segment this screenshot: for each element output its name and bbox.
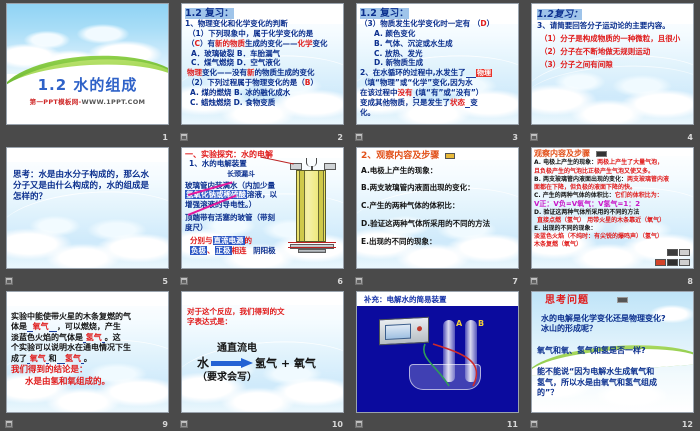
thumbnail-footer-8: 8 bbox=[525, 271, 700, 288]
text-line: D. 新物质生成 bbox=[360, 59, 515, 68]
slide-number: 9 bbox=[162, 420, 168, 429]
slide-body-9: 实验中能使带火星的木条复燃的气 体是 氧气 ，可以燃烧，产生 淡蓝色火焰的气体是… bbox=[7, 292, 168, 412]
equation-product: 氢气 + 氧气 bbox=[255, 355, 316, 371]
text-line: E. 出现的不同的现象： bbox=[534, 225, 691, 232]
slide-thumbnail-4[interactable]: 1.2复习： 3、请简要回答分子运动论的主要内容。 （1）分子是构成物质的一种微… bbox=[525, 0, 700, 144]
media-button-icon[interactable] bbox=[445, 153, 455, 159]
text-line: 面都在下降，但负极的液面下降的快。 bbox=[534, 184, 691, 191]
slide-canvas-5[interactable]: 思考：水是由水分子构成的，那么水 分子又是由什么构成的，水的组成是 怎样的？ bbox=[6, 147, 169, 269]
thumbnail-footer-2: 2 bbox=[175, 127, 350, 144]
text-line-mixed: 2、在水循环的过程中,水发生了 物理 bbox=[360, 69, 515, 78]
slide-thumbnail-3[interactable]: 1.2 复习： （3）物质发生化学变化时一定有 （D） A. 颜色变化 B. 气… bbox=[350, 0, 525, 144]
text-line: 分子又是由什么构成的，水的组成是 bbox=[13, 181, 162, 191]
text-line: （1）分子是构成物质的一种微粒，且很小 bbox=[537, 35, 688, 44]
slide-number: 8 bbox=[687, 277, 693, 286]
slide-heading: 1.2复习： bbox=[537, 6, 688, 20]
text-line: 1、物理变化和化学变化的判断 bbox=[185, 20, 340, 29]
text-line: 且负极产生的气泡比正极产生气泡又使又多。 bbox=[534, 168, 691, 175]
text-line: E.出现的不同的现象： bbox=[361, 238, 514, 247]
slide-thumbnail-2[interactable]: 1.2 复习： 1、物理变化和化学变化的判断 （1）下列现象中，属于化学变化的是… bbox=[175, 0, 350, 144]
text-line: 氢气，所以水是由氧气和氢气组成 bbox=[537, 378, 688, 387]
slide-thumbnail-5[interactable]: 思考：水是由水分子构成的，那么水 分子又是由什么构成的，水的组成是 怎样的？ 5 bbox=[0, 144, 175, 288]
text-line-mixed: 成了 氧气 和 氢气 。 bbox=[11, 354, 164, 363]
text-line: 怎样的？ bbox=[13, 192, 162, 202]
slide-canvas-12[interactable]: 思考问题 水的电解是化学变化还是物理变化? 冰山的形成呢？ 氧气和氧、氢气和氢是… bbox=[531, 291, 694, 413]
slide-canvas-11[interactable]: 补充：电解水的简易装置 A B bbox=[356, 291, 519, 413]
slide-thumbnail-12[interactable]: 思考问题 水的电解是化学变化还是物理变化? 冰山的形成呢？ 氧气和氧、氢气和氢是… bbox=[525, 288, 700, 431]
text-line: 冰山的形成呢？ bbox=[537, 324, 688, 333]
media-icon[interactable] bbox=[5, 277, 13, 285]
text-line-mixed: B. 两支玻璃管内液面出现的变化：两支玻璃管内液 bbox=[534, 176, 691, 183]
blank-answer: 氧气 bbox=[30, 354, 46, 363]
slide-body-10: 对于这个反应，我们得到的文 字表达式是： 通直流电 水 氢气 + 氧气 （要求会… bbox=[182, 292, 343, 412]
slide-thumbnail-7[interactable]: 2、观察内容及步骤 A.电极上产生的现象： B.两支玻璃管内液面出现的变化： C… bbox=[350, 144, 525, 288]
slide-thumbnail-6[interactable]: 一、实验探究：水的电解 1、水的电解装置 长颈漏斗 玻璃管内装满水（内加少量 氢… bbox=[175, 144, 350, 288]
slide-thumbnail-11[interactable]: 补充：电解水的简易装置 A B 11 bbox=[350, 288, 525, 431]
label-electrodes: 阴阳极 bbox=[253, 246, 276, 255]
text-line: 的”？ bbox=[537, 388, 688, 397]
simple-electrolysis-diagram: A B bbox=[357, 292, 518, 412]
thumbnail-footer-3: 3 bbox=[350, 127, 525, 144]
text-line: 顶端带有活塞的玻管（带刻 bbox=[185, 214, 340, 223]
arrow-icon bbox=[211, 358, 253, 368]
text-line-mixed: 淡蓝色火焰的气体是 氢气 。这 bbox=[11, 333, 164, 342]
text-line-mixed: 分别与直流电源的 bbox=[185, 237, 340, 246]
text-line: B.两支玻璃管内液面出现的变化： bbox=[361, 184, 514, 193]
text-line-mixed: 变成其他物质，只是发生了状态 变 bbox=[360, 99, 515, 108]
media-icon[interactable] bbox=[180, 420, 188, 428]
slide-thumbnail-grid: 1.2 水的组成 第一PPT模板网-WWW.1PPT.COM 1 1.2 复习：… bbox=[0, 0, 700, 431]
text-line: 思考：水是由水分子构成的，那么水 bbox=[13, 170, 162, 180]
thumbnail-footer-11: 11 bbox=[350, 414, 525, 431]
media-icon[interactable] bbox=[180, 133, 188, 141]
slide-number: 6 bbox=[337, 277, 343, 286]
slide-number: 5 bbox=[162, 277, 168, 286]
media-btn[interactable] bbox=[679, 249, 690, 256]
media-btn-record[interactable] bbox=[655, 259, 666, 266]
text-line-mixed: C. 产生的两种气体的体积比：它们的体积比为： bbox=[534, 192, 691, 199]
text-line: A.电极上产生的现象： bbox=[361, 167, 514, 176]
slide-body-7: 2、观察内容及步骤 A.电极上产生的现象： B.两支玻璃管内液面出现的变化： C… bbox=[357, 148, 518, 268]
text-line: 氧气和氧、氢气和氢是否一样? bbox=[537, 346, 688, 355]
thumbnail-footer-6: 6 bbox=[175, 271, 350, 288]
text-line: D.验证这两种气体所采用的不同的方法 bbox=[361, 220, 514, 229]
equation-reactant: 水 bbox=[197, 354, 209, 371]
slide-body-4: 1.2复习： 3、请简要回答分子运动论的主要内容。 （1）分子是构成物质的一种微… bbox=[532, 4, 693, 124]
text-line-mixed: 氢氧化钠或稀硫酸溶液，以 bbox=[185, 191, 340, 200]
slide-body-12: 思考问题 水的电解是化学变化还是物理变化? 冰山的形成呢？ 氧气和氧、氢气和氢是… bbox=[532, 292, 693, 412]
slide-canvas-6[interactable]: 一、实验探究：水的电解 1、水的电解装置 长颈漏斗 玻璃管内装满水（内加少量 氢… bbox=[181, 147, 344, 269]
thumbnail-footer-10: 10 bbox=[175, 414, 350, 431]
media-icon[interactable] bbox=[355, 133, 363, 141]
slide-number: 2 bbox=[337, 133, 343, 142]
text-line: 实验中能使带火星的木条复燃的气 bbox=[11, 312, 164, 321]
slide-body-3: 1.2 复习： （3）物质发生化学变化时一定有 （D） A. 颜色变化 B. 气… bbox=[357, 4, 518, 124]
text-line: 1、水的电解装置 bbox=[185, 160, 340, 169]
text-line: C. 蜡烛燃烧 D. 食物变质 bbox=[185, 99, 340, 108]
slide-thumbnail-9[interactable]: 实验中能使带火星的木条复燃的气 体是 氧气 ，可以燃烧，产生 淡蓝色火焰的气体是… bbox=[0, 288, 175, 431]
text-line: 直接点燃（氢气） 用带火星的木条靠近（氧气） bbox=[534, 217, 691, 224]
text-line-mixed: （3）物质发生化学变化时一定有 （D） bbox=[360, 20, 515, 29]
thumbnail-footer-7: 7 bbox=[350, 271, 525, 288]
thumbnail-footer-12: 12 bbox=[525, 414, 700, 431]
media-icon[interactable] bbox=[355, 420, 363, 428]
slide-heading: 观察内容及步骤 bbox=[534, 149, 691, 158]
media-btn-play[interactable] bbox=[679, 259, 690, 266]
slide-thumbnail-1[interactable]: 1.2 水的组成 第一PPT模板网-WWW.1PPT.COM 1 bbox=[0, 0, 175, 144]
label-funnel: 长颈漏斗 bbox=[185, 170, 340, 178]
slide-canvas-4[interactable]: 1.2复习： 3、请简要回答分子运动论的主要内容。 （1）分子是构成物质的一种微… bbox=[531, 3, 694, 125]
text-line: C.产生的两种气体的体积比： bbox=[361, 202, 514, 211]
subtitle-prefix: 第一PPT模板网- bbox=[30, 98, 82, 106]
equation-row: 水 氢气 + 氧气 bbox=[187, 354, 338, 371]
text-line: A. 颜色变化 bbox=[360, 30, 515, 39]
text-line: 3、请简要回答分子运动论的主要内容。 bbox=[537, 22, 688, 31]
conclusion-label: 我们得到的结论是： bbox=[11, 365, 164, 375]
text-line: 水的电解是化学变化还是物理变化? bbox=[537, 314, 688, 323]
slide-number: 10 bbox=[332, 420, 343, 429]
media-icon[interactable] bbox=[530, 420, 538, 428]
slide-heading: 1.2 复习： bbox=[360, 5, 515, 19]
text-line: 能不能说“因为电解水生成氧气和 bbox=[537, 367, 688, 376]
slide-heading: 思考问题 bbox=[537, 295, 688, 307]
slide-number: 1 bbox=[162, 133, 168, 142]
blank-answer: 氧气 bbox=[33, 322, 49, 331]
equation-note: （要求会写） bbox=[187, 372, 338, 384]
slide-thumbnail-10[interactable]: 对于这个反应，我们得到的文 字表达式是： 通直流电 水 氢气 + 氧气 （要求会… bbox=[175, 288, 350, 431]
text-line: B. 气体、沉淀或水生成 bbox=[360, 40, 515, 49]
slide-canvas-7[interactable]: 2、观察内容及步骤 A.电极上产生的现象： B.两支玻璃管内液面出现的变化： C… bbox=[356, 147, 519, 269]
slide-canvas-1[interactable]: 1.2 水的组成 第一PPT模板网-WWW.1PPT.COM bbox=[6, 3, 169, 125]
text-line: 木条复燃（氧气） bbox=[534, 241, 691, 248]
text-line: 字表达式是： bbox=[187, 318, 338, 327]
media-button-icon[interactable] bbox=[617, 297, 628, 303]
media-player-controls-top[interactable] bbox=[667, 249, 690, 256]
slide-canvas-10[interactable]: 对于这个反应，我们得到的文 字表达式是： 通直流电 水 氢气 + 氧气 （要求会… bbox=[181, 291, 344, 413]
text-line-mixed: （C）有新的物质生成的变化——化学变化 bbox=[185, 40, 340, 49]
text-formula: V正：V负=V氧气：V氢气=1：2 bbox=[534, 200, 691, 208]
slide-canvas-3[interactable]: 1.2 复习： （3）物质发生化学变化时一定有 （D） A. 颜色变化 B. 气… bbox=[356, 3, 519, 125]
text-line: 个实验可以说明水在通电情况下生 bbox=[11, 343, 164, 352]
text-line: 淡蓝色火焰（不纯时：有尖锐的爆鸣声）（氢气） bbox=[534, 233, 691, 240]
slide-canvas-8[interactable]: 观察内容及步骤 A. 电极上产生的现象：两极上产生了大量气泡， 且负极产生的气泡… bbox=[531, 147, 694, 269]
text-line: （1）下列现象中，属于化学变化的是 bbox=[185, 30, 340, 39]
media-btn-stop[interactable] bbox=[667, 259, 678, 266]
blank-answer: 氢气 bbox=[86, 333, 102, 342]
text-line: 化。 bbox=[360, 109, 515, 118]
media-button-icon[interactable] bbox=[596, 151, 607, 157]
text-line: （填“物理”或“化学”变化,因为水 bbox=[360, 79, 515, 88]
text-line-mixed: 物理变化——没有新的物质生成的变化 bbox=[185, 69, 340, 78]
text-line: （2）分子在不断地做无规则运动 bbox=[537, 48, 688, 57]
thumbnail-footer-5: 5 bbox=[0, 271, 175, 288]
thumbnail-footer-4: 4 bbox=[525, 127, 700, 144]
media-icon[interactable] bbox=[530, 133, 538, 141]
text-line: 对于这个反应，我们得到的文 bbox=[187, 308, 338, 317]
text-line: C．煤气燃烧 D．空气液化 bbox=[185, 59, 340, 68]
slide-heading: 1.2 复习： bbox=[185, 5, 340, 19]
connection-wires bbox=[357, 292, 519, 413]
slide-heading: 2、观察内容及步骤 bbox=[361, 151, 514, 162]
slide-canvas-9[interactable]: 实验中能使带火星的木条复燃的气 体是 氧气 ，可以燃烧，产生 淡蓝色火焰的气体是… bbox=[6, 291, 169, 413]
text-line-mixed: 负极、正极相连 阴阳极 bbox=[185, 247, 340, 256]
text-line-mixed: 在该过程中没有 (填“有”或“没有”） bbox=[360, 89, 515, 98]
thumbnail-footer-9: 9 bbox=[0, 414, 175, 431]
page-title: 1.2 水的组成 bbox=[7, 74, 168, 95]
conclusion-text: 水是由氢和氧组成的。 bbox=[11, 377, 164, 387]
subtitle-url: WWW.1PPT.COM bbox=[82, 98, 146, 106]
slide-number: 11 bbox=[507, 420, 518, 429]
slide-thumbnail-8[interactable]: 观察内容及步骤 A. 电极上产生的现象：两极上产生了大量气泡， 且负极产生的气泡… bbox=[525, 144, 700, 288]
slide-canvas-2[interactable]: 1.2 复习： 1、物理变化和化学变化的判断 （1）下列现象中，属于化学变化的是… bbox=[181, 3, 344, 125]
media-icon[interactable] bbox=[5, 420, 13, 428]
slide-body-5: 思考：水是由水分子构成的，那么水 分子又是由什么构成的，水的组成是 怎样的？ bbox=[7, 148, 168, 268]
text-line-mixed: A. 电极上产生的现象：两极上产生了大量气泡， bbox=[534, 159, 691, 166]
media-icon[interactable] bbox=[355, 277, 363, 285]
blank-answer: 氢气 bbox=[65, 354, 81, 363]
text-line: D. 验证这两种气体所采用的不同的方法 bbox=[534, 209, 691, 216]
media-player-controls[interactable] bbox=[655, 259, 690, 266]
media-icon[interactable] bbox=[180, 277, 188, 285]
thumbnail-footer-1: 1 bbox=[0, 127, 175, 144]
slide-number: 4 bbox=[687, 133, 693, 142]
text-line: 度尺） bbox=[185, 224, 340, 233]
media-icon[interactable] bbox=[530, 277, 538, 285]
media-btn[interactable] bbox=[667, 249, 678, 256]
slide-number: 3 bbox=[512, 133, 518, 142]
text-line: （3）分子之间有间隙 bbox=[537, 61, 688, 70]
text-line: A. 煤的燃烧 B. 冰的融化成水 bbox=[185, 89, 340, 98]
slide-number: 7 bbox=[512, 277, 518, 286]
text-line-mixed: 体是 氧气 ，可以燃烧，产生 bbox=[11, 322, 164, 331]
text-line-mixed: （2）下列过程属于物理变化的是（B） bbox=[185, 79, 340, 88]
slide-number: 12 bbox=[682, 420, 693, 429]
equation-condition: 通直流电 bbox=[187, 343, 338, 355]
subtitle: 第一PPT模板网-WWW.1PPT.COM bbox=[7, 96, 168, 106]
slide-body-2: 1.2 复习： 1、物理变化和化学变化的判断 （1）下列现象中，属于化学变化的是… bbox=[182, 4, 343, 124]
